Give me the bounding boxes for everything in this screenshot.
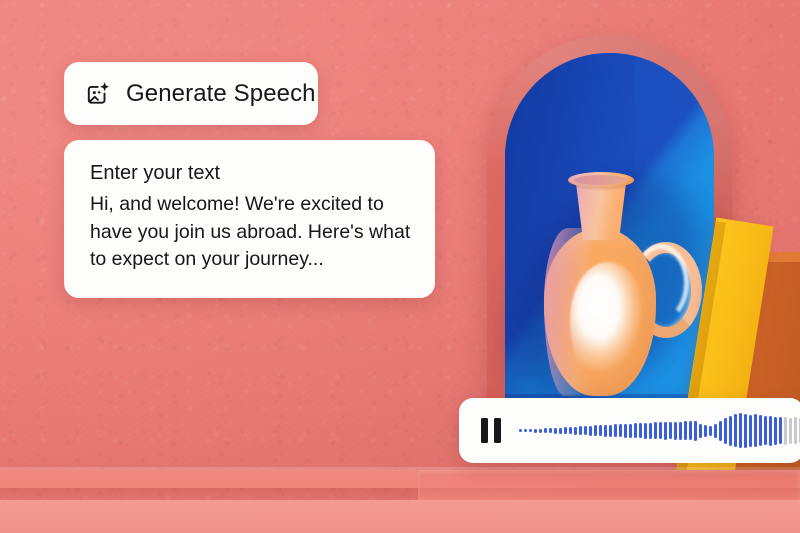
waveform-bar	[759, 415, 762, 446]
waveform-bar	[749, 415, 752, 447]
waveform-bar	[644, 423, 647, 439]
waveform-bar	[734, 414, 737, 447]
waveform-bar	[694, 421, 697, 441]
waveform-bar	[579, 426, 582, 435]
waveform-bar	[559, 428, 562, 434]
waveform-bar	[754, 414, 757, 447]
audio-player-card[interactable]	[459, 398, 800, 463]
text-input-label: Enter your text	[90, 161, 411, 186]
waveform-bar	[729, 416, 732, 446]
vase-white-highlight	[570, 262, 646, 388]
waveform-bar	[669, 422, 672, 439]
waveform-bar	[789, 418, 792, 444]
waveform-bar	[724, 418, 727, 444]
waveform-bar	[549, 428, 552, 433]
waveform-bar	[529, 429, 532, 432]
vase-lip-inner	[574, 175, 628, 185]
generate-speech-button[interactable]: Generate Speech	[64, 62, 318, 125]
waveform-bar	[639, 423, 642, 438]
waveform-bar	[594, 425, 597, 436]
waveform-bar	[534, 429, 537, 433]
waveform-bar	[544, 428, 547, 433]
waveform-bar	[524, 429, 527, 432]
text-input-card[interactable]: Enter your text Hi, and welcome! We're e…	[64, 140, 435, 298]
waveform-bar	[739, 413, 742, 448]
scene-root: Generate Speech Enter your text Hi, and …	[0, 0, 800, 533]
waveform-bar	[784, 417, 787, 445]
waveform-bar	[604, 425, 607, 437]
sparkle-image-icon	[84, 80, 112, 108]
waveform-bar	[654, 422, 657, 439]
waveform-bar	[704, 425, 707, 437]
audio-waveform[interactable]	[519, 411, 800, 451]
text-input-value[interactable]: Hi, and welcome! We're excited to have y…	[90, 191, 411, 274]
waveform-bar	[634, 423, 637, 438]
waveform-bar	[569, 427, 572, 434]
ceramic-vase	[534, 170, 684, 400]
waveform-bar	[629, 424, 632, 438]
waveform-bar	[519, 429, 522, 432]
waveform-bar	[599, 425, 602, 436]
waveform-bar	[664, 422, 667, 440]
waveform-bar	[684, 421, 687, 440]
waveform-bar	[679, 422, 682, 440]
waveform-bar	[554, 428, 557, 434]
waveform-bar	[659, 422, 662, 439]
waveform-bar	[774, 417, 777, 445]
waveform-bar	[779, 417, 782, 444]
step-lower	[0, 500, 800, 533]
waveform-bar	[714, 424, 717, 438]
waveform-bar	[564, 427, 567, 434]
waveform-bar	[719, 421, 722, 441]
generate-speech-label: Generate Speech	[126, 80, 316, 108]
waveform-bar	[619, 424, 622, 437]
pause-bar-right	[494, 418, 501, 443]
waveform-bar	[794, 417, 797, 444]
waveform-bar	[674, 422, 677, 440]
waveform-bar	[699, 424, 702, 438]
waveform-bar	[589, 426, 592, 436]
waveform-bar	[539, 429, 542, 433]
waveform-bar	[574, 427, 577, 435]
waveform-bar	[584, 426, 587, 435]
waveform-bar	[624, 424, 627, 438]
pause-icon[interactable]	[481, 418, 501, 443]
waveform-bar	[609, 425, 612, 437]
waveform-bar	[744, 414, 747, 448]
waveform-bar	[764, 416, 767, 445]
waveform-bar	[689, 421, 692, 440]
waveform-bar	[649, 423, 652, 439]
waveform-bar	[614, 424, 617, 437]
waveform-bar	[709, 426, 712, 436]
waveform-bar	[769, 416, 772, 446]
pause-bar-left	[481, 418, 488, 443]
